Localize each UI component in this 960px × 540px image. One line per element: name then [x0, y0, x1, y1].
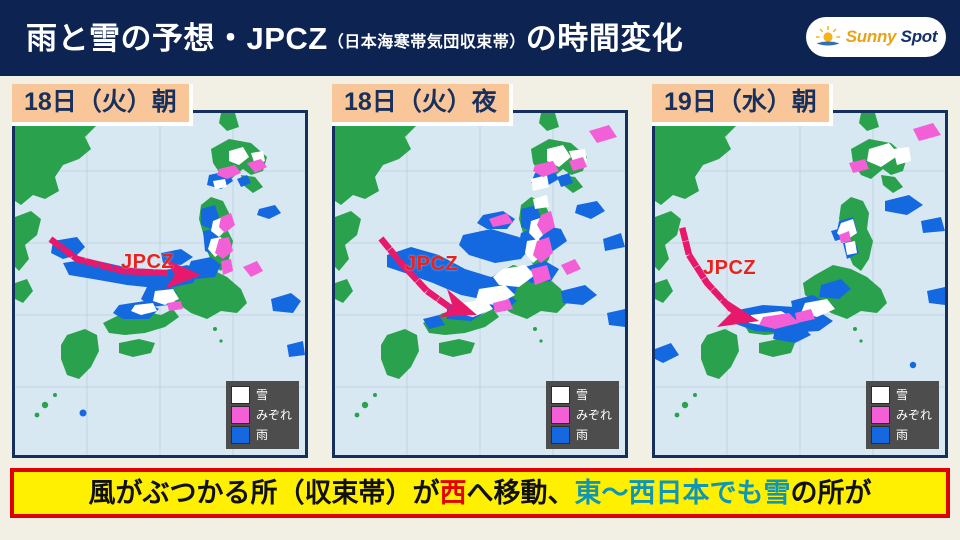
banner-segment-1: 風がぶつかる所（収束帯）が [89, 478, 440, 508]
brand-logo-text: Sunny Spot [846, 27, 937, 47]
legend-item-snow: 雪 [551, 386, 612, 404]
legend-item-rain: 雨 [231, 426, 292, 444]
legend-label-rain: 雨 [256, 429, 268, 441]
sunrise-icon [815, 26, 841, 48]
legend-swatch-snow [871, 386, 890, 404]
jpcz-label-3: JPCZ [703, 257, 756, 280]
legend-item-rain: 雨 [871, 426, 932, 444]
page-header: 雨と雪の予想・JPCZ（日本海寒帯気団収束帯）の時間変化 Sunny Spot [0, 0, 960, 76]
legend-item-sleet: みぞれ [871, 406, 932, 424]
legend-label-sleet: みぞれ [576, 409, 612, 421]
legend-swatch-sleet [871, 406, 890, 424]
panel-date-label-1: 18日（火）朝 [12, 84, 193, 126]
map-legend-2: 雪 みぞれ 雨 [546, 381, 619, 449]
map-legend-3: 雪 みぞれ 雨 [866, 381, 939, 449]
panel-date-label-2: 18日（火）夜 [332, 84, 513, 126]
legend-label-sleet: みぞれ [896, 409, 932, 421]
legend-swatch-snow [231, 386, 250, 404]
legend-label-rain: 雨 [896, 429, 908, 441]
legend-item-snow: 雪 [871, 386, 932, 404]
forecast-panel-3[interactable]: 雪 みぞれ 雨 JPCZ [652, 110, 948, 458]
legend-swatch-sleet [551, 406, 570, 424]
page-title-parenthetical: （日本海寒帯気団収束帯） [328, 34, 526, 51]
map-legend-1: 雪 みぞれ 雨 [226, 381, 299, 449]
legend-label-sleet: みぞれ [256, 409, 292, 421]
jpcz-label-2: JPCZ [405, 253, 458, 276]
legend-label-snow: 雪 [896, 389, 908, 401]
brand-logo: Sunny Spot [806, 17, 946, 57]
forecast-panel-row: 雪 みぞれ 雨 JPCZ [0, 84, 960, 460]
banner-segment-5: の所が [791, 478, 872, 508]
legend-item-snow: 雪 [231, 386, 292, 404]
forecast-panel-2[interactable]: 雪 みぞれ 雨 JPCZ [332, 110, 628, 458]
banner-segment-3: へ移動、 [467, 478, 575, 508]
legend-item-sleet: みぞれ [551, 406, 612, 424]
page-title-tail: の時間変化 [526, 21, 684, 56]
summary-banner: 風がぶつかる所（収束帯）が西へ移動、東〜西日本でも雪の所が [10, 468, 950, 518]
legend-swatch-snow [551, 386, 570, 404]
brand-word-spot: Spot [901, 27, 938, 46]
legend-label-snow: 雪 [576, 389, 588, 401]
legend-swatch-sleet [231, 406, 250, 424]
legend-swatch-rain [231, 426, 250, 444]
legend-item-sleet: みぞれ [231, 406, 292, 424]
panel-date-label-3: 19日（水）朝 [652, 84, 833, 126]
legend-swatch-rain [871, 426, 890, 444]
forecast-panel-1[interactable]: 雪 みぞれ 雨 JPCZ [12, 110, 308, 458]
page-title: 雨と雪の予想・JPCZ（日本海寒帯気団収束帯）の時間変化 [26, 23, 683, 54]
legend-label-snow: 雪 [256, 389, 268, 401]
brand-word-sunny: Sunny [846, 27, 896, 46]
legend-swatch-rain [551, 426, 570, 444]
banner-segment-highlight-west: 西 [440, 478, 467, 508]
summary-banner-text: 風がぶつかる所（収束帯）が西へ移動、東〜西日本でも雪の所が [89, 480, 872, 507]
jpcz-label-1: JPCZ [121, 251, 174, 274]
banner-segment-highlight-snow: 東〜西日本でも雪 [575, 478, 791, 508]
page-title-main: 雨と雪の予想・JPCZ [26, 21, 328, 56]
legend-label-rain: 雨 [576, 429, 588, 441]
legend-item-rain: 雨 [551, 426, 612, 444]
